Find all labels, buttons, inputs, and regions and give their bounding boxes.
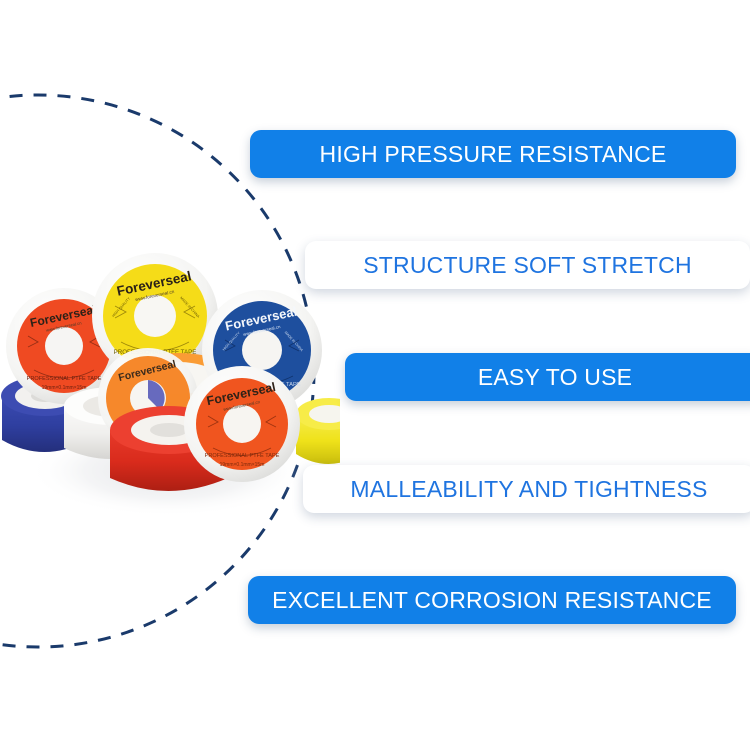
feature-high-pressure-resistance[interactable]: HIGH PRESSURE RESISTANCE xyxy=(250,130,736,178)
roll-yellow-right xyxy=(296,398,340,464)
feature-excellent-corrosion-resistance[interactable]: EXCELLENT CORROSION RESISTANCE xyxy=(248,576,736,624)
feature-malleability-and-tightness[interactable]: MALLEABILITY AND TIGHTNESS xyxy=(303,465,750,513)
feature-label: HIGH PRESSURE RESISTANCE xyxy=(320,143,667,166)
svg-text:PROFESSIONAL PTFE TAPE: PROFESSIONAL PTFE TAPE xyxy=(27,376,102,382)
svg-text:19mm×0.1mm×15m: 19mm×0.1mm×15m xyxy=(220,462,265,468)
feature-label: STRUCTURE SOFT STRETCH xyxy=(363,254,692,277)
infographic-stage: Foreverseal www.foreverseal.cn PROFESSIO… xyxy=(0,0,750,750)
feature-structure-soft-stretch[interactable]: STRUCTURE SOFT STRETCH xyxy=(305,241,750,289)
svg-text:PROFESSIONAL PTFE TAPE: PROFESSIONAL PTFE TAPE xyxy=(205,453,280,459)
feature-label: EASY TO USE xyxy=(478,366,632,389)
feature-easy-to-use[interactable]: EASY TO USE xyxy=(345,353,750,401)
feature-label: MALLEABILITY AND TIGHTNESS xyxy=(350,478,707,501)
svg-text:19mm×0.1mm×15m: 19mm×0.1mm×15m xyxy=(42,385,87,391)
roll-orange-red-front: Foreverseal www.foreverseal.cn PROFESSIO… xyxy=(184,366,300,482)
feature-label: EXCELLENT CORROSION RESISTANCE xyxy=(272,589,712,612)
ptfe-tape-rolls-photo: Foreverseal www.foreverseal.cn PROFESSIO… xyxy=(0,228,340,518)
